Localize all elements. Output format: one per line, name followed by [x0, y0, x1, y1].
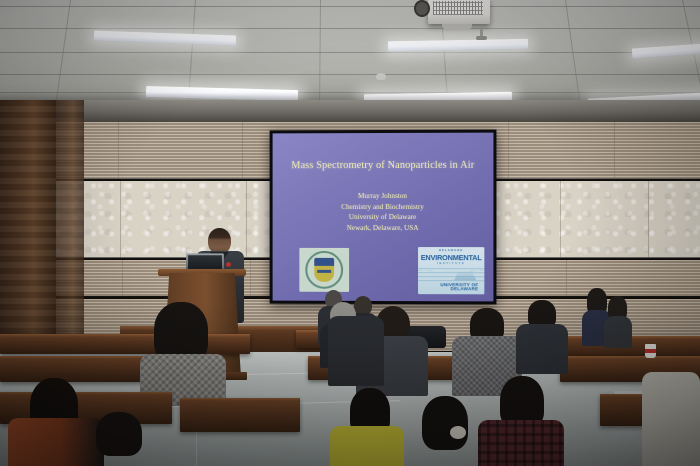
audience-hair [154, 302, 208, 362]
ud-shield-icon [314, 258, 334, 282]
delaware-environmental-institute-logo: DELAWARE ENVIRONMENTAL INSTITUTE UNIVERS… [418, 247, 484, 294]
audience-torso [604, 316, 632, 348]
audience-torso [642, 372, 700, 466]
audience-torso [478, 420, 564, 466]
audience-member [516, 300, 568, 370]
ud-seal-ring [305, 251, 343, 289]
audience-hair [422, 396, 468, 450]
audience-member-yellow-jacket [330, 388, 404, 466]
audience-member-plaid [478, 376, 564, 466]
dei-main-text: ENVIRONMENTAL [418, 253, 484, 262]
audience-member [140, 302, 226, 398]
dei-university-text: UNIVERSITY OF DELAWARE [440, 283, 478, 292]
audience-member [604, 296, 632, 346]
audience-member-right-edge [642, 372, 700, 466]
slide-subtitle-line: Chemistry and Biochemistry [273, 202, 494, 213]
presenter-badge [226, 262, 231, 267]
hair-tie [450, 426, 466, 439]
slide-subtitle-line: Murray Johnston [273, 191, 494, 202]
presentation-slide: Mass Spectrometry of Nanoparticles in Ai… [273, 133, 494, 302]
audience-torso [328, 316, 384, 386]
coffee-cup [645, 344, 656, 358]
lecture-hall-photo: Mass Spectrometry of Nanoparticles in Ai… [0, 0, 700, 466]
audience-torso [516, 324, 568, 374]
slide-title: Mass Spectrometry of Nanoparticles in Ai… [273, 160, 494, 171]
slide-subtitle: Murray Johnston Chemistry and Biochemist… [273, 191, 494, 234]
wall-wood-column-left [0, 100, 56, 350]
audience-torso [330, 426, 404, 466]
wall-wood-column-left-inner [56, 100, 84, 350]
smoke-detector-icon [376, 73, 386, 80]
audience-member-child [408, 396, 480, 466]
dei-top-text: DELAWARE [418, 249, 484, 252]
audience-member [88, 412, 152, 466]
audience-hair [96, 412, 142, 456]
ceiling-projector [428, 0, 490, 24]
projector-mount [480, 26, 483, 38]
wall-soffit [0, 100, 700, 122]
slide-subtitle-line: Newark, Delaware, USA [273, 223, 494, 234]
slide-subtitle-line: University of Delaware [273, 212, 494, 223]
projector-label [433, 1, 483, 15]
projector-lens-icon [414, 0, 430, 17]
dei-institute-text: INSTITUTE [418, 262, 484, 265]
ceiling [0, 0, 700, 108]
university-of-delaware-logo [299, 248, 349, 292]
projection-screen: Mass Spectrometry of Nanoparticles in Ai… [270, 130, 497, 305]
desk-row-front [180, 398, 300, 432]
